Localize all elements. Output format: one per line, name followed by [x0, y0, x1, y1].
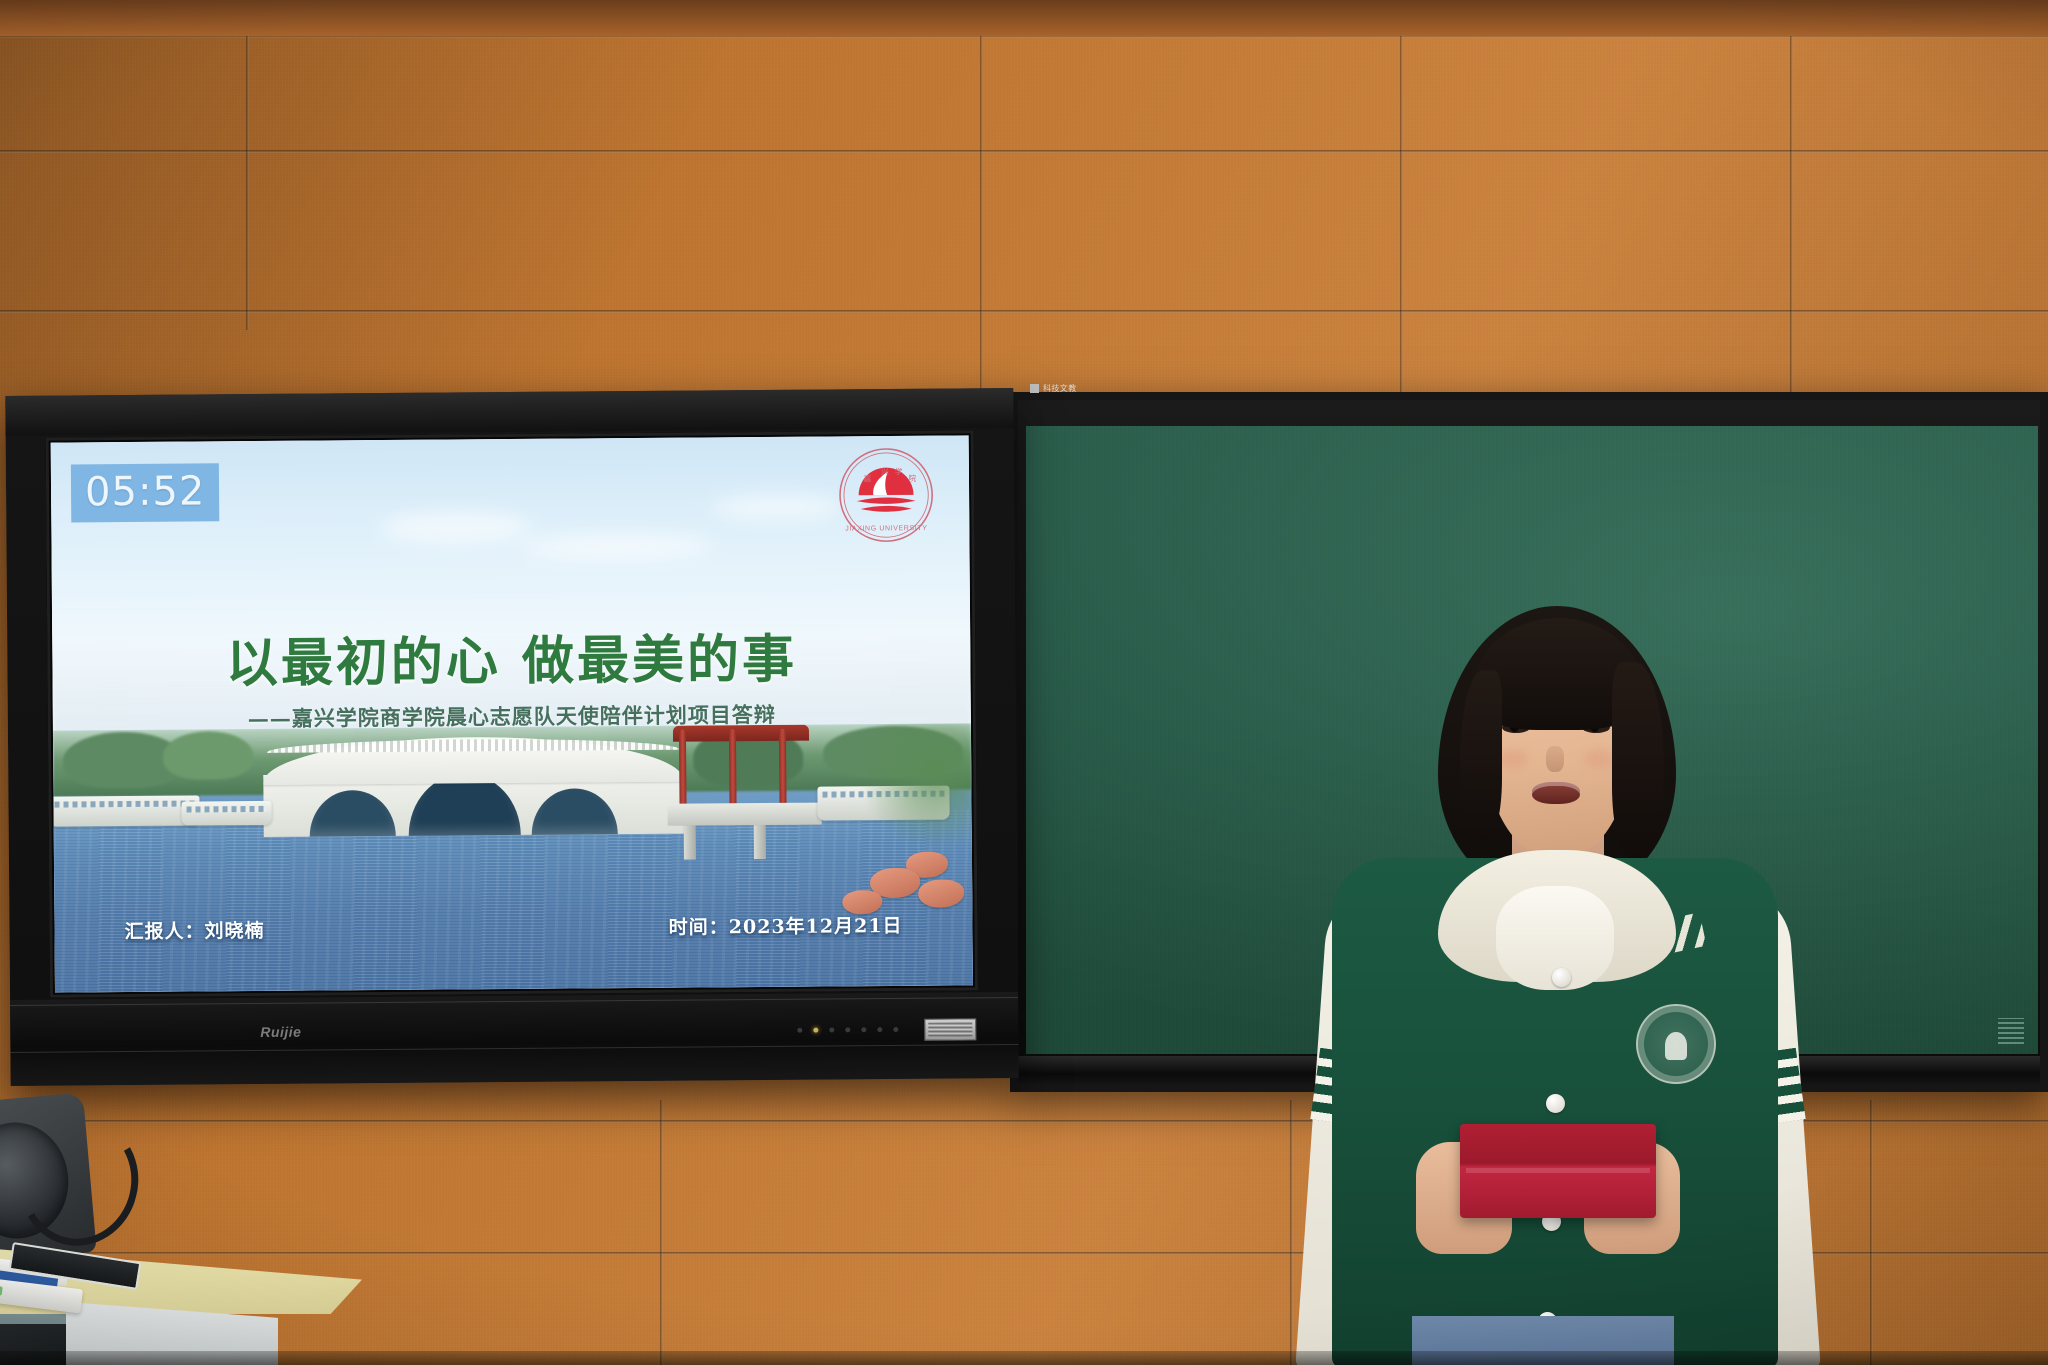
chalkboard-label-text: 科技文教 — [1043, 383, 1077, 394]
wall-seam-vertical — [1290, 1100, 1293, 1365]
cloud — [521, 533, 711, 560]
bridge-railing — [267, 738, 679, 753]
led-indicator — [797, 1028, 802, 1033]
boat — [181, 801, 271, 826]
bridge-arch — [309, 790, 395, 837]
svg-text:JIAXING UNIVERSITY: JIAXING UNIVERSITY — [845, 525, 927, 533]
cheek — [1584, 750, 1614, 768]
pavilion-pillar — [684, 826, 696, 860]
jacket-button — [1546, 1094, 1565, 1113]
red-note-cards — [1460, 1124, 1656, 1218]
display-screen[interactable]: 05:52 JIAXING UNIVERSITY 嘉 兴 — [51, 435, 973, 992]
date-label: 时间：2023年12月21日 — [669, 911, 903, 940]
university-emblem-patch — [1638, 1006, 1714, 1082]
jiaxing-university-logo: JIAXING UNIVERSITY 嘉 兴 学 院 — [837, 446, 936, 545]
display-brand-logo: Ruijie — [260, 1024, 301, 1040]
stone-arch-bridge — [263, 736, 684, 851]
display-bottom-bezel: Ruijie — [10, 992, 1019, 1086]
hair-side-left — [1460, 670, 1502, 840]
bezel-hairline — [10, 1044, 1018, 1053]
rock — [918, 879, 964, 907]
display-top-bezel — [5, 388, 1013, 436]
chalkboard-label: 科技文教 — [1030, 380, 1077, 397]
slide-photo-campus-lake: 汇报人：刘晓楠 时间：2023年12月21日 — [53, 723, 973, 992]
presentation-slide: 05:52 JIAXING UNIVERSITY 嘉 兴 — [51, 435, 973, 992]
bridge-deck — [263, 736, 683, 785]
pavilion-roof — [673, 725, 809, 742]
lectern-desk[interactable] — [0, 1236, 362, 1365]
mouth — [1532, 782, 1580, 804]
wall-seam-vertical — [1400, 0, 1403, 392]
pavilion-pillar — [754, 825, 766, 859]
bridge-arch — [531, 788, 617, 835]
svg-text:院: 院 — [908, 473, 916, 483]
cloud — [711, 494, 841, 519]
floor-edge — [0, 1351, 2048, 1365]
tree — [163, 731, 253, 780]
wall-seam-horizontal — [0, 150, 2048, 153]
jacket-button — [1552, 968, 1571, 987]
svg-text:嘉: 嘉 — [863, 473, 871, 483]
wall-seam-vertical — [1790, 0, 1793, 392]
classroom-scene: 科技文教 05:52 — [0, 0, 2048, 1365]
cheek — [1498, 750, 1528, 768]
ir-receiver-panel — [924, 1018, 976, 1040]
interactive-display[interactable]: 05:52 JIAXING UNIVERSITY 嘉 兴 — [5, 388, 1018, 1086]
nose — [1546, 746, 1564, 772]
led-indicator — [893, 1027, 898, 1032]
wall-seam-vertical — [246, 0, 249, 330]
display-status-leds — [797, 1027, 898, 1033]
waterside-pavilion — [667, 729, 816, 840]
presenter-label: 汇报人：刘晓楠 — [124, 916, 264, 944]
countdown-timer: 05:52 — [71, 463, 220, 522]
svg-text:学: 学 — [895, 466, 903, 476]
boat — [53, 795, 200, 826]
led-indicator — [861, 1027, 866, 1032]
display-bezel: 05:52 JIAXING UNIVERSITY 嘉 兴 — [46, 430, 978, 997]
led-indicator — [845, 1027, 850, 1032]
boat-windows — [54, 800, 194, 807]
wall-seam-horizontal — [0, 310, 2048, 313]
pavilion-deck — [668, 803, 822, 826]
wall-seam-vertical — [1870, 1100, 1873, 1365]
wall-top-shadow — [0, 0, 2048, 36]
wall-seam-vertical — [660, 1100, 663, 1365]
label-icon — [1030, 384, 1039, 393]
shore-vegetation — [851, 723, 972, 844]
led-indicator-power — [813, 1028, 818, 1033]
svg-text:兴: 兴 — [881, 467, 889, 476]
led-indicator — [877, 1027, 882, 1032]
led-indicator — [829, 1027, 834, 1032]
slide-title: 以最初的心 做最美的事 — [52, 615, 971, 697]
student-presenter — [1320, 600, 1790, 1365]
bezel-hairline — [10, 997, 1018, 1006]
chalk-marks — [1998, 1018, 2024, 1044]
boat-windows — [187, 806, 267, 813]
wall-seam-vertical — [980, 0, 983, 392]
cloud — [381, 511, 531, 544]
